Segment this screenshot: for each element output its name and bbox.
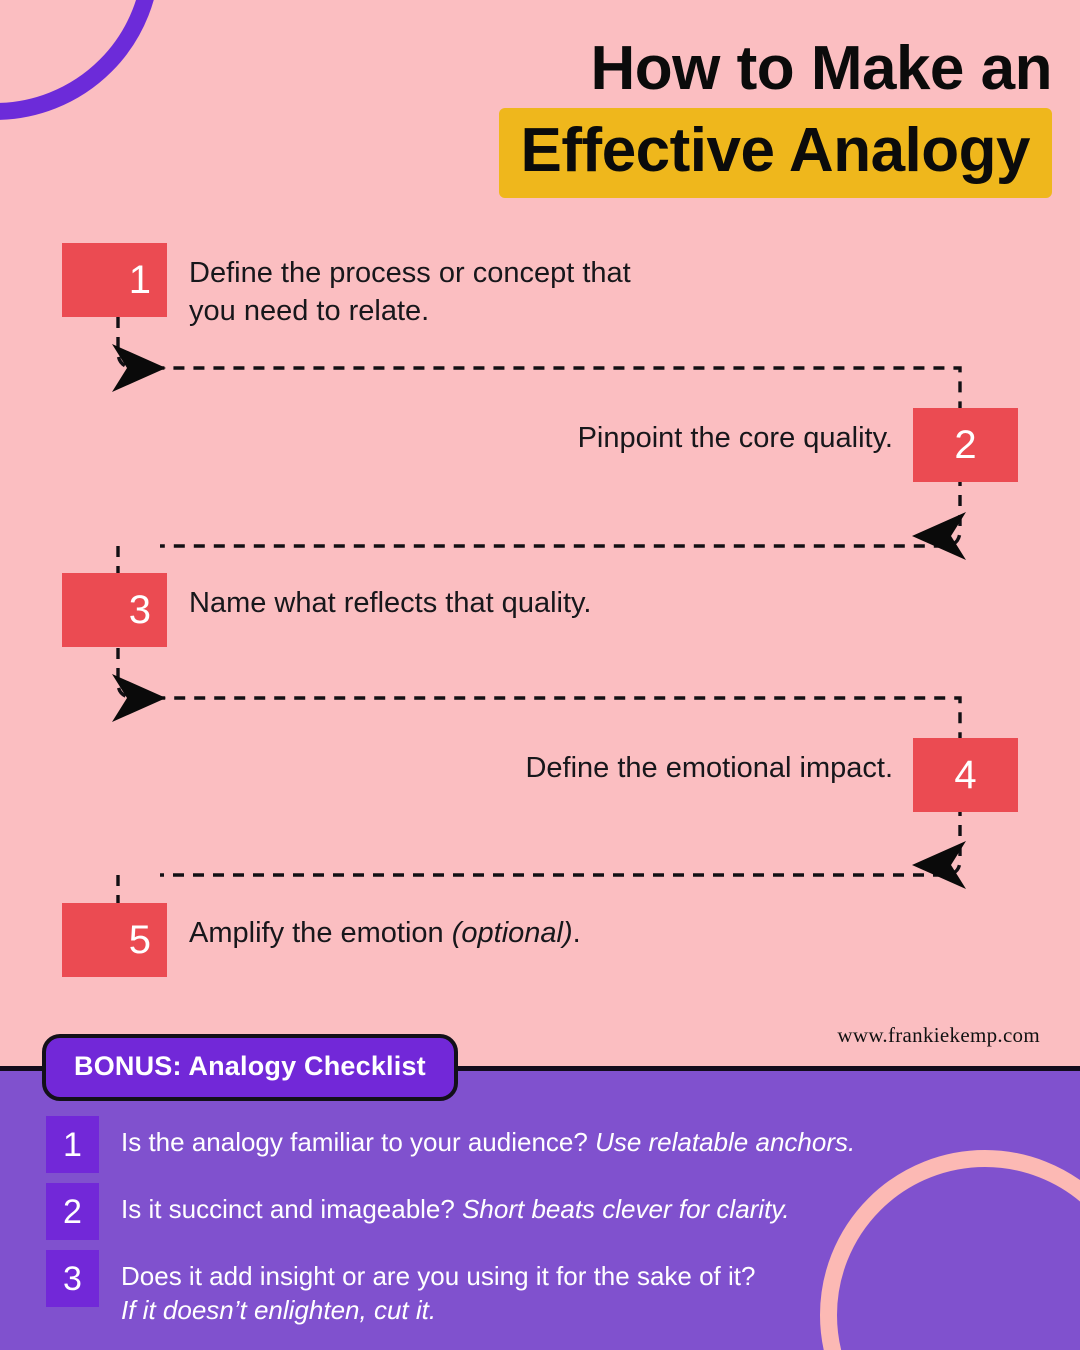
step-item-3: 3 Name what reflects that quality. xyxy=(62,573,591,647)
checklist-text-3: Does it add insight or are you using it … xyxy=(121,1250,755,1328)
step-number-5: 5 xyxy=(129,920,151,960)
bonus-checklist: 1 Is the analogy familiar to your audien… xyxy=(46,1116,1036,1338)
website-url: www.frankiekemp.com xyxy=(837,1023,1040,1048)
step-text-4: Define the emotional impact. xyxy=(525,738,893,788)
checklist-number-badge-2: 2 xyxy=(46,1183,99,1240)
step-text-2: Pinpoint the core quality. xyxy=(578,408,893,458)
checklist-number-badge-3: 3 xyxy=(46,1250,99,1307)
step-number-3: 3 xyxy=(129,590,151,630)
bonus-badge: BONUS: Analogy Checklist xyxy=(42,1034,458,1101)
checklist-item: 3 Does it add insight or are you using i… xyxy=(46,1250,1036,1328)
step-item-4: Define the emotional impact. 4 xyxy=(525,738,1018,812)
step-item-1: 1 Define the process or concept thatyou … xyxy=(62,243,631,330)
checklist-item: 2 Is it succinct and imageable? Short be… xyxy=(46,1183,1036,1240)
decorative-purple-arc-icon xyxy=(0,0,160,120)
step-text-5: Amplify the emotion (optional). xyxy=(189,903,581,953)
checklist-text-2: Is it succinct and imageable? Short beat… xyxy=(121,1183,790,1227)
page-title: How to Make an Effective Analogy xyxy=(499,36,1052,198)
checklist-item: 1 Is the analogy familiar to your audien… xyxy=(46,1116,1036,1173)
infographic-poster: How to Make an Effective Analogy 1 Defin… xyxy=(0,0,1080,1350)
step-item-2: Pinpoint the core quality. 2 xyxy=(578,408,1018,482)
bonus-badge-label: BONUS: Analogy Checklist xyxy=(74,1051,426,1081)
step-number-badge-2: 2 xyxy=(913,408,1018,482)
step-number-badge-5: 5 xyxy=(62,903,167,977)
step-number-badge-4: 4 xyxy=(913,738,1018,812)
title-line-one: How to Make an xyxy=(499,36,1052,102)
step-item-5: 5 Amplify the emotion (optional). xyxy=(62,903,581,977)
checklist-text-1: Is the analogy familiar to your audience… xyxy=(121,1116,855,1160)
title-line-two-highlight: Effective Analogy xyxy=(499,108,1052,198)
step-number-badge-1: 1 xyxy=(62,243,167,317)
step-number-badge-3: 3 xyxy=(62,573,167,647)
step-number-4: 4 xyxy=(954,755,976,795)
step-text-3: Name what reflects that quality. xyxy=(189,573,591,623)
checklist-number-badge-1: 1 xyxy=(46,1116,99,1173)
steps-list: 1 Define the process or concept thatyou … xyxy=(0,243,1080,983)
step-number-1: 1 xyxy=(129,260,151,300)
checklist-number-3: 3 xyxy=(63,1262,82,1296)
step-number-2: 2 xyxy=(954,425,976,465)
checklist-number-1: 1 xyxy=(63,1128,82,1162)
step-text-1: Define the process or concept thatyou ne… xyxy=(189,243,631,330)
checklist-number-2: 2 xyxy=(63,1195,82,1229)
